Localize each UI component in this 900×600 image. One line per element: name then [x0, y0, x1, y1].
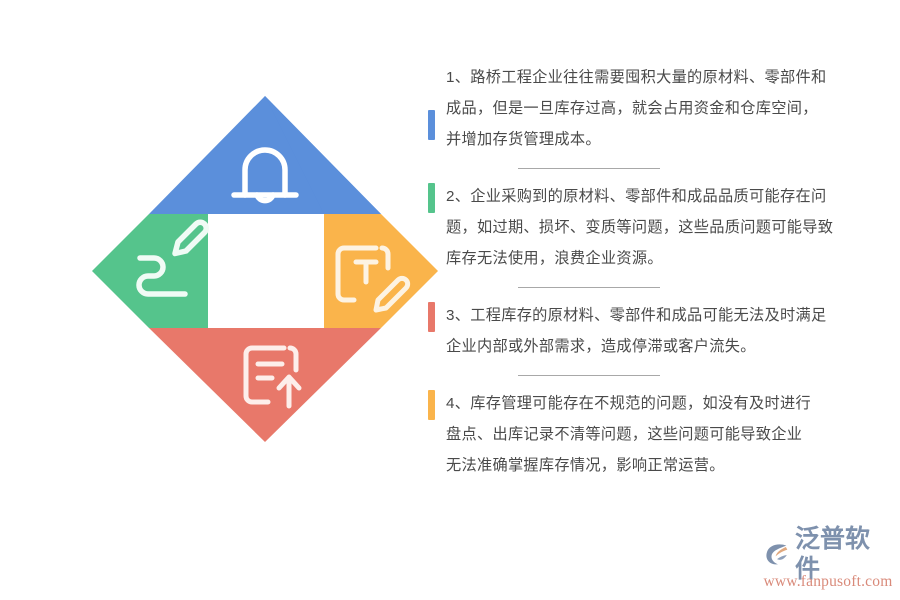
brand-logo: 泛普软件 www.fanpusoft.com [762, 536, 894, 594]
issue-item-4: 4、库存管理可能存在不规范的问题，如没有及时进行 盘点、出库记录不清等问题，这些… [428, 388, 880, 481]
divider-2 [518, 287, 660, 288]
divider-3-wrap [428, 362, 880, 388]
accent-bar-3 [428, 302, 435, 332]
issue-item-1: 1、路桥工程企业往往需要囤积大量的原材料、零部件和 成品，但是一旦库存过高，就会… [428, 62, 880, 155]
accent-bar-1 [428, 110, 435, 140]
divider-2-wrap [428, 274, 880, 300]
divider-3 [518, 375, 660, 376]
brand-row: 泛普软件 [762, 536, 894, 572]
issue-list: 1、路桥工程企业往往需要囤积大量的原材料、零部件和 成品，但是一旦库存过高，就会… [428, 62, 880, 481]
accent-bar-4 [428, 390, 435, 420]
accent-bar-2 [428, 183, 435, 213]
diamond-quadrant-top [149, 96, 381, 214]
fanpu-swoosh-logo-icon [762, 539, 792, 569]
diamond-quadrant-right [324, 214, 438, 328]
brand-url: www.fanpusoft.com [762, 573, 894, 591]
infographic-diamond [92, 96, 438, 442]
issue-text-3: 3、工程库存的原材料、零部件和成品可能无法及时满足 企业内部或外部需求，造成停滞… [446, 300, 880, 362]
issue-text-2: 2、企业采购到的原材料、零部件和成品品质可能存在问 题，如过期、损坏、变质等问题… [446, 181, 880, 274]
issue-item-3: 3、工程库存的原材料、零部件和成品可能无法及时满足 企业内部或外部需求，造成停滞… [428, 300, 880, 362]
diamond-quadrant-bottom [149, 328, 381, 442]
divider-1-wrap [428, 155, 880, 181]
issue-text-1: 1、路桥工程企业往往需要囤积大量的原材料、零部件和 成品，但是一旦库存过高，就会… [446, 62, 880, 155]
issue-item-2: 2、企业采购到的原材料、零部件和成品品质可能存在问 题，如过期、损坏、变质等问题… [428, 181, 880, 274]
divider-1 [518, 168, 660, 169]
issue-text-4: 4、库存管理可能存在不规范的问题，如没有及时进行 盘点、出库记录不清等问题，这些… [446, 388, 880, 481]
diamond-quadrant-left [92, 214, 208, 328]
